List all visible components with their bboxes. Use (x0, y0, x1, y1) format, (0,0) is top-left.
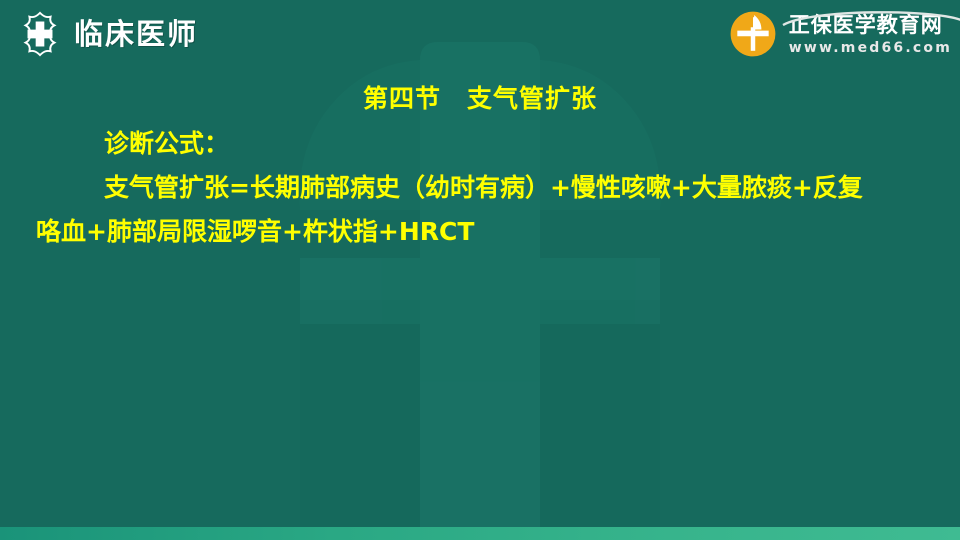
brand-title: 临床医师 (74, 20, 198, 49)
slide-body: 诊断公式： 支气管扩张=长期肺部病史（幼时有病）+慢性咳嗽+大量脓痰+反复 咯血… (36, 122, 926, 254)
body-line-formula-part1: 支气管扩张=长期肺部病史（幼时有病）+慢性咳嗽+大量脓痰+反复 (36, 166, 926, 210)
orange-circle-cross-logo-icon (725, 6, 781, 62)
header-right-corporate-logo: 正保医学教育网 www.med66.com (725, 6, 952, 62)
slide-title: 第四节 支气管扩张 (0, 79, 960, 115)
header-left-brand: 临床医师 (16, 10, 198, 58)
corporate-url: www.med66.com (789, 41, 952, 55)
footer-accent-bar (0, 527, 960, 540)
body-line-formula-part2: 咯血+肺部局限湿啰音+杵状指+HRCT (36, 210, 926, 254)
presentation-slide: 临床医师 正保医学教育网 www.med66.com 第四节 支气管扩张 诊断公… (0, 0, 960, 540)
medical-cross-flower-icon (16, 10, 64, 58)
body-line-label: 诊断公式： (36, 122, 926, 166)
swoosh-arc-icon (781, 8, 960, 26)
